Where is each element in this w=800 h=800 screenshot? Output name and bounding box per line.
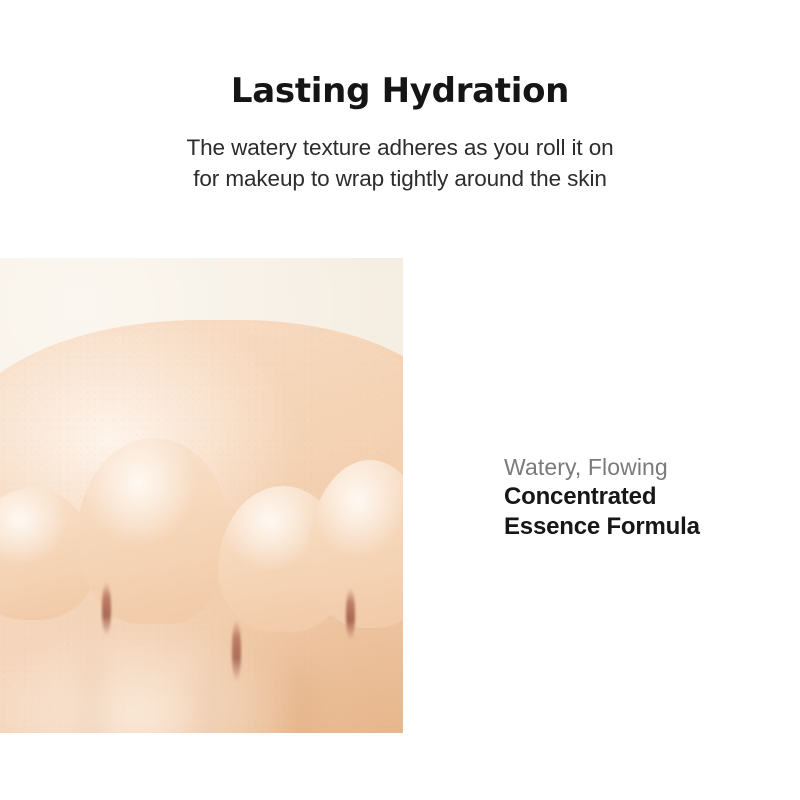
knuckle-2 (78, 438, 230, 624)
hand-skin (0, 320, 403, 733)
caption-headline: Concentrated Essence Formula (504, 482, 774, 542)
page-subtitle: The watery texture adheres as you roll i… (0, 112, 800, 194)
caption-eyebrow: Watery, Flowing (504, 452, 774, 482)
page-subtitle-line-2: for makeup to wrap tightly around the sk… (0, 163, 800, 194)
caption-block: Watery, Flowing Concentrated Essence For… (504, 452, 774, 542)
page-subtitle-line-1: The watery texture adheres as you roll i… (0, 132, 800, 163)
caption-headline-line-2: Essence Formula (504, 512, 774, 542)
product-photo (0, 258, 403, 733)
header-block: Lasting Hydration The watery texture adh… (0, 0, 800, 194)
page-title: Lasting Hydration (0, 0, 800, 112)
caption-headline-line-1: Concentrated (504, 482, 774, 512)
product-feature-page: Lasting Hydration The watery texture adh… (0, 0, 800, 800)
knuckle-cleft-3 (346, 588, 355, 640)
